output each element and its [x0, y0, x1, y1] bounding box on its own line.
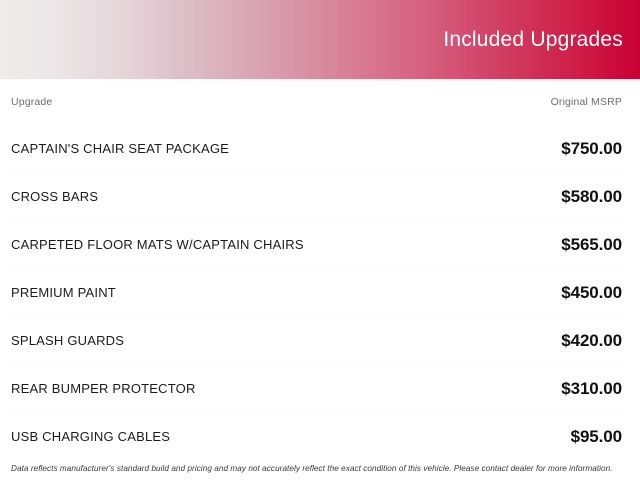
page-title: Included Upgrades	[443, 29, 623, 50]
upgrade-price: $580.00	[561, 187, 622, 207]
upgrade-name: PREMIUM PAINT	[11, 285, 130, 300]
table-row: USB CHARGING CABLES $95.00	[11, 413, 622, 460]
upgrade-name: CARPETED FLOOR MATS W/CAPTAIN CHAIRS	[11, 237, 318, 252]
disclaimer-text: Data reflects manufacturer's standard bu…	[11, 464, 613, 474]
upgrade-name: SPLASH GUARDS	[11, 333, 138, 348]
upgrade-name: CAPTAIN'S CHAIR SEAT PACKAGE	[11, 141, 243, 156]
table-row: CARPETED FLOOR MATS W/CAPTAIN CHAIRS $56…	[11, 221, 622, 269]
upgrade-price: $565.00	[561, 235, 622, 255]
upgrade-price: $420.00	[561, 331, 622, 351]
table-row: CAPTAIN'S CHAIR SEAT PACKAGE $750.00	[11, 125, 622, 173]
column-header-original-msrp: Original MSRP	[551, 96, 622, 108]
table-row: SPLASH GUARDS $420.00	[11, 317, 622, 365]
upgrade-name: CROSS BARS	[11, 189, 112, 204]
upgrade-rows: CAPTAIN'S CHAIR SEAT PACKAGE $750.00 CRO…	[11, 125, 622, 460]
included-upgrades-panel: Included Upgrades Upgrade Original MSRP …	[0, 0, 640, 480]
upgrades-table: Upgrade Original MSRP CAPTAIN'S CHAIR SE…	[0, 79, 640, 460]
upgrade-price: $750.00	[561, 139, 622, 159]
table-row: CROSS BARS $580.00	[11, 173, 622, 221]
table-column-headers: Upgrade Original MSRP	[11, 79, 622, 125]
upgrade-price: $450.00	[561, 283, 622, 303]
upgrade-name: USB CHARGING CABLES	[11, 429, 184, 444]
panel-header-banner: Included Upgrades	[0, 0, 640, 79]
upgrade-price: $95.00	[571, 427, 622, 447]
column-header-upgrade: Upgrade	[11, 96, 52, 108]
disclaimer-footer: Data reflects manufacturer's standard bu…	[0, 460, 640, 494]
upgrade-price: $310.00	[561, 379, 622, 399]
upgrade-name: REAR BUMPER PROTECTOR	[11, 381, 210, 396]
table-row: PREMIUM PAINT $450.00	[11, 269, 622, 317]
table-row: REAR BUMPER PROTECTOR $310.00	[11, 365, 622, 413]
